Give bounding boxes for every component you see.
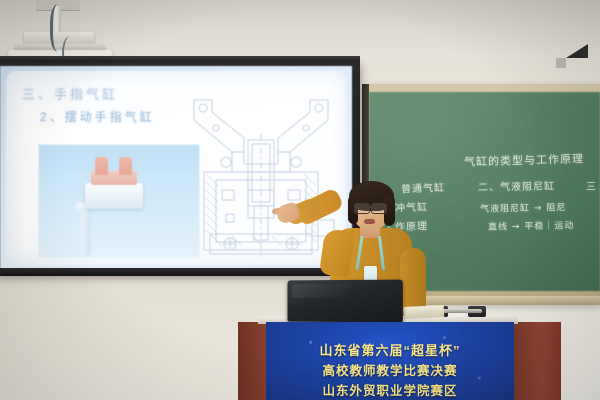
classroom-scene: 三、手指气缸 2、摆动手指气缸 [0,0,600,400]
banner-line-1: 山东省第六届“超星杯” [266,340,514,359]
slide-subtitle: 2、摆动手指气缸 [40,108,155,125]
slide-photo-gripper [38,144,200,258]
podium-side-left [238,322,266,400]
gripper-body [85,183,143,209]
event-banner: 山东省第六届“超星杯” 高校教师教学比赛决赛 山东外贸职业学院赛区 [266,322,514,400]
banner-line-3: 山东外贸职业学院赛区 [266,380,514,399]
podium-side-right [513,322,561,400]
screen-bottom-rail [0,268,360,276]
paper-stack [404,305,445,319]
instructor-shoulder-left [319,228,355,278]
instructor-mouth [364,219,375,224]
chalk-right-line-1: 二、气液阻尼缸 [478,177,555,193]
chalk-heading: 气缸的类型与工作原理 [464,150,584,169]
eyeglasses-bridge [368,206,372,208]
eyeglasses-lens-left-icon [354,203,370,214]
wall-mount-block [556,58,566,68]
projected-slide: 三、手指气缸 2、摆动手指气缸 [0,66,352,270]
chalk-far-right-mark: 三 [586,178,597,193]
gripper-finger-right [119,157,132,175]
gripper-finger-left [95,157,108,175]
chalk-right-line-2: 气液阻尼缸 → 阻尼 [480,200,566,215]
slide-technical-drawing [186,94,336,262]
eyeglasses-lens-right-icon [371,203,387,214]
banner-line-2: 高校教师教学比赛决赛 [266,360,514,379]
laptop-screen-glare [292,284,352,298]
chalk-right-line-3: 直线 → 平稳｜运动 [488,218,574,233]
slide-title: 三、手指气缸 [22,84,118,103]
